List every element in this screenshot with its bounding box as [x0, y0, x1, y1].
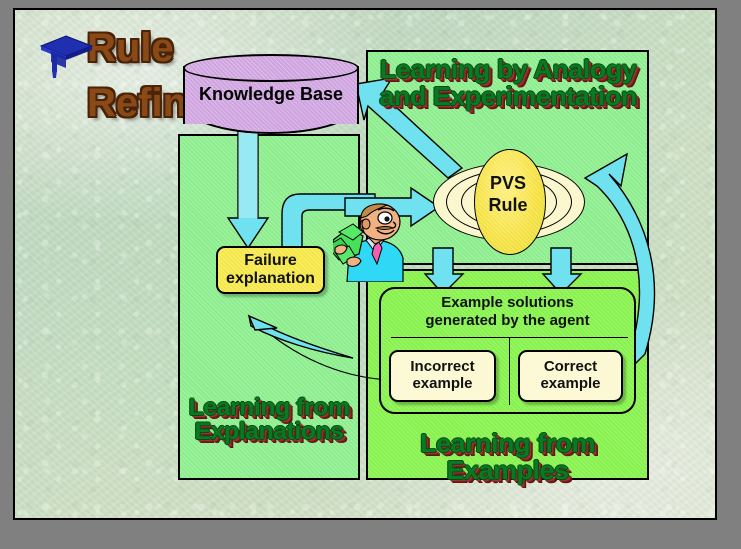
pvs-rule-node[interactable]: PVS Rule: [433, 149, 583, 253]
page-title-vertical: Rule Refinement: [87, 30, 149, 510]
pvs-line-2: Rule: [433, 195, 583, 217]
incorrect-line-2: example: [410, 376, 474, 393]
failure-line-2: explanation: [226, 270, 315, 288]
arrow-curve-incorrect-example-to-explanations: [233, 306, 393, 386]
slide-root: Rule Refinement: [0, 0, 741, 549]
slide-canvas: Rule Refinement: [13, 8, 717, 520]
correct-line-1: Correct: [540, 359, 600, 376]
heading-explanations-line-1: Learning from: [177, 396, 360, 420]
heading-analogy-line-2: and Experimentation: [368, 83, 649, 110]
example-solutions-line-2: generated by the agent: [381, 312, 634, 330]
pvs-line-1: PVS: [433, 173, 583, 195]
heading-analogy-line-1: Learning by Analogy: [368, 56, 649, 83]
divider-vertical: [509, 337, 510, 405]
pvs-rule-label: PVS Rule: [433, 173, 583, 217]
heading-examples-line-1: Learning from Examples: [363, 430, 651, 483]
failure-line-1: Failure: [226, 252, 315, 270]
knowledge-base-label: Knowledge Base: [183, 84, 359, 105]
incorrect-line-1: Incorrect: [410, 359, 474, 376]
heading-learning-from-examples: Learning from Examples: [363, 430, 651, 483]
failure-explanation-node[interactable]: Failure explanation: [216, 246, 325, 294]
heading-learning-from-explanations: Learning from Explanations: [177, 396, 360, 445]
heading-learning-by-analogy: Learning by Analogy and Experimentation: [368, 56, 649, 109]
example-solutions-header: Example solutions generated by the agent: [381, 294, 634, 329]
page-title-word-2: Refinement: [87, 85, 149, 122]
correct-line-2: example: [540, 376, 600, 393]
page-title-word-1: Rule: [87, 30, 149, 67]
incorrect-example-node[interactable]: Incorrect example: [389, 350, 496, 402]
knowledge-base-node[interactable]: Knowledge Base: [183, 54, 359, 134]
kb-cylinder-top: [183, 54, 359, 82]
example-solutions-line-1: Example solutions: [381, 294, 634, 312]
heading-explanations-line-2: Explanations: [177, 420, 360, 444]
correct-example-node[interactable]: Correct example: [518, 350, 623, 402]
graduation-cap-icon: [37, 32, 95, 80]
arrow-down-kb-to-failure: [228, 128, 274, 252]
man-with-money-clipart: [333, 202, 407, 282]
